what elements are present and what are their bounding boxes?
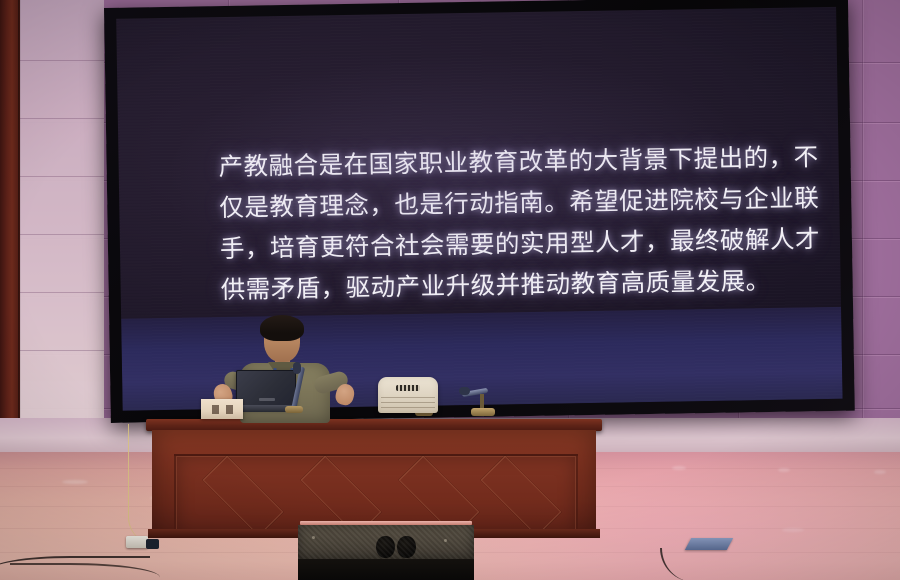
- console-vent-grille: [396, 385, 420, 391]
- mic-capsule: [459, 387, 470, 395]
- monitor-case-grille: [298, 525, 474, 559]
- desk-nameplate: [201, 399, 243, 419]
- screen-display-area: 产教融合是在国家职业教育改革的大背景下提出的，不仅是教育理念，也是行动指南。希望…: [116, 7, 842, 411]
- laptop-logo: [259, 398, 275, 401]
- pilaster-shadow: [18, 0, 21, 452]
- desk-console-speaker[interactable]: [378, 377, 438, 413]
- boom-microphone[interactable]: [462, 386, 496, 418]
- auditorium-stage-scene: 产教融合是在国家职业教育改革的大背景下提出的，不仅是教育理念，也是行动指南。希望…: [0, 0, 900, 580]
- mic-capsule: [293, 362, 301, 374]
- cable-connector: [146, 539, 159, 549]
- console-body: [378, 377, 438, 413]
- podium-desk: [152, 419, 596, 537]
- monitor-case-base: [298, 559, 474, 580]
- power-adapter-block: [126, 536, 148, 548]
- mic-base: [471, 408, 495, 416]
- wood-pilaster-left: [0, 0, 20, 452]
- mic-base: [285, 406, 303, 413]
- slide-text: 产教融合是在国家职业教育改革的大背景下提出的，不仅是教育理念，也是行动指南。希望…: [218, 137, 821, 311]
- nameplate-glyph: [212, 405, 219, 414]
- floor-cable-cover-plate: [685, 538, 733, 550]
- gooseneck-microphone[interactable]: [289, 366, 297, 416]
- floor-monitor-case: [298, 521, 474, 580]
- led-presentation-screen[interactable]: 产教融合是在国家职业教育改革的大背景下提出的，不仅是教育理念，也是行动指南。希望…: [104, 0, 855, 423]
- nameplate-glyph: [226, 405, 233, 414]
- laptop-lid: [236, 370, 296, 408]
- yellow-power-cable: [128, 424, 155, 544]
- speaker-hair: [260, 315, 304, 341]
- wall-panel-column-left: [18, 0, 104, 436]
